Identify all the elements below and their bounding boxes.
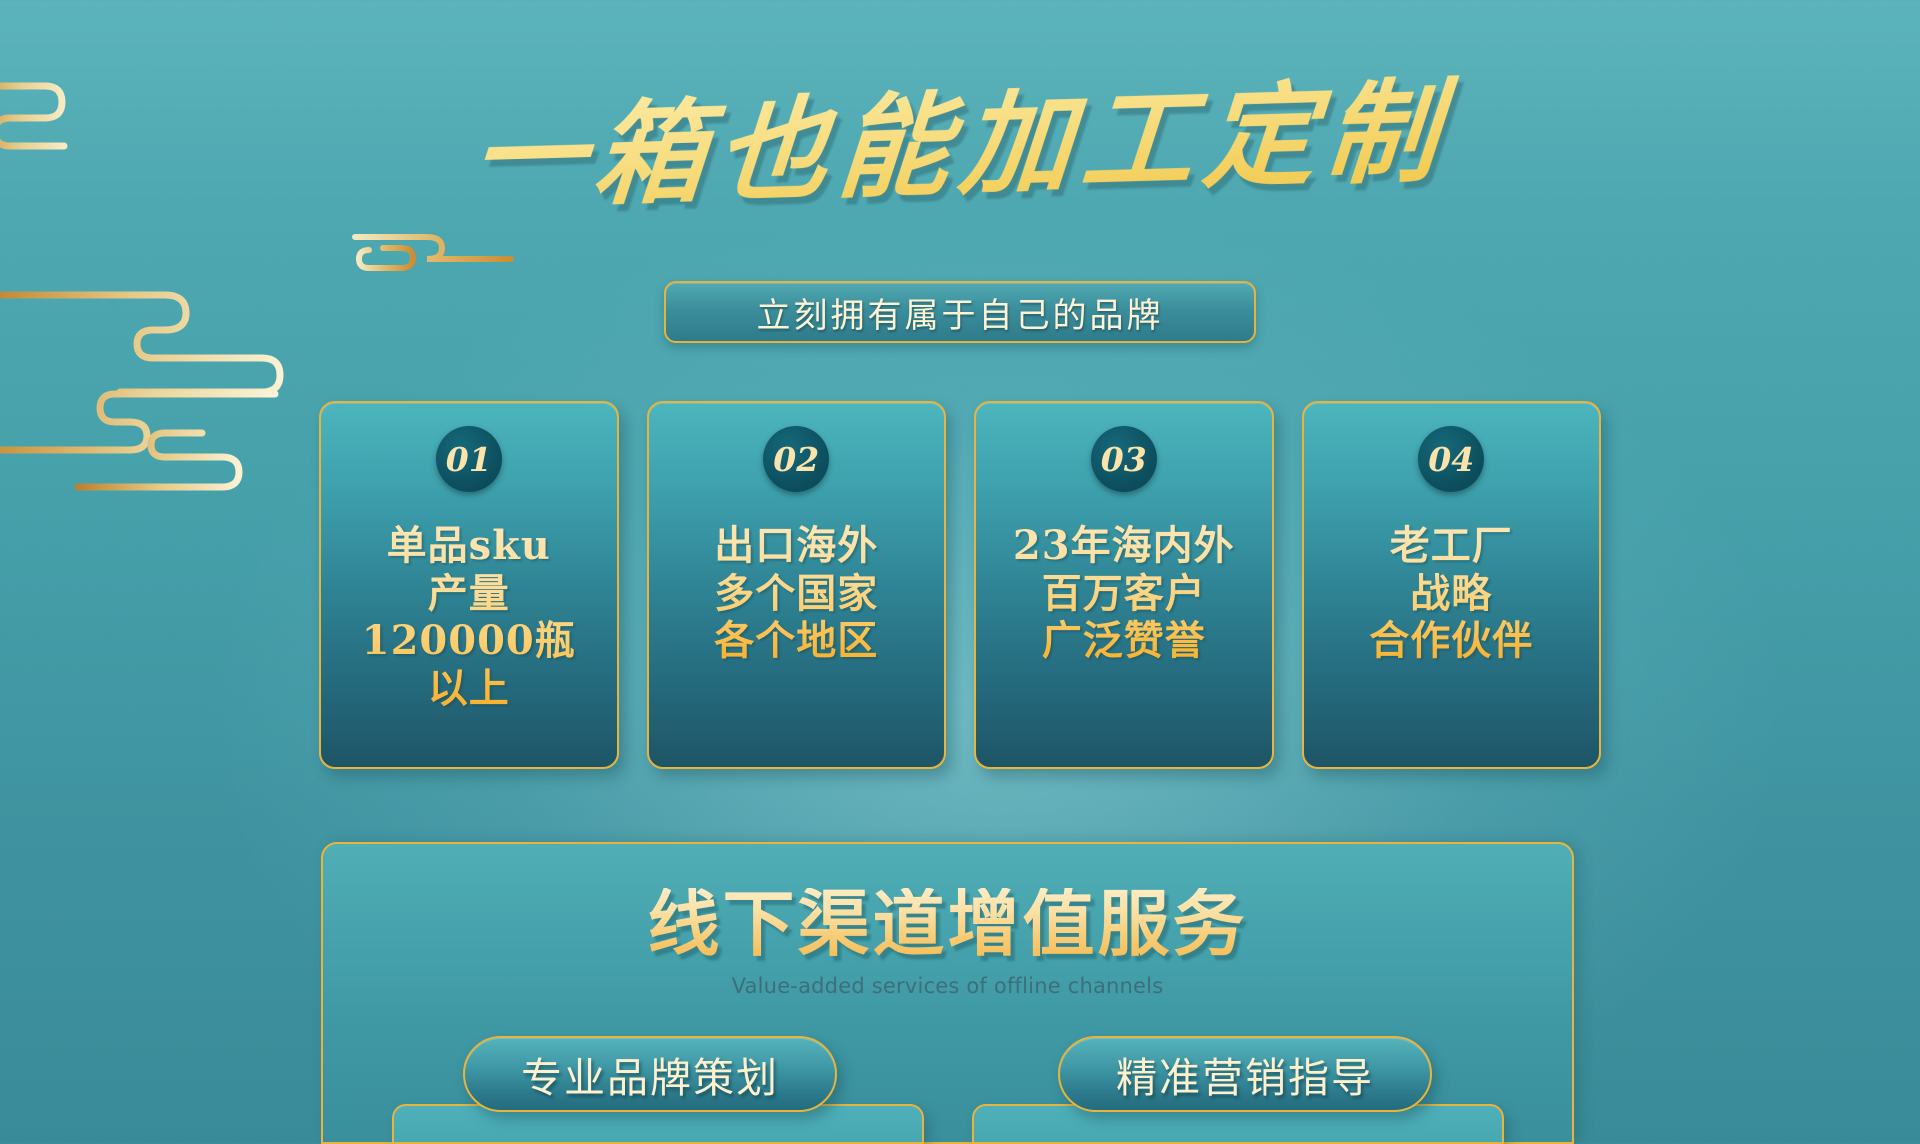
feature-card[interactable]: 01 单品sku 产量 120000瓶 以上: [319, 401, 619, 769]
card-text-line: 合作伙伴: [1369, 617, 1533, 665]
card-number-badge: 02: [763, 426, 829, 492]
service-pill-label: 精准营销指导: [1116, 1044, 1374, 1104]
card-text-line: 单品sku: [362, 522, 576, 570]
card-text-line: 以上: [362, 665, 576, 713]
card-text-line: 120000瓶: [362, 617, 576, 665]
feature-card[interactable]: 02 出口海外 多个国家 各个地区: [647, 401, 947, 769]
card-number-badge: 01: [436, 426, 502, 492]
card-number-label: 02: [773, 440, 819, 479]
card-number-label: 03: [1101, 440, 1147, 479]
card-text-block: 老工厂 战略 合作伙伴: [1369, 522, 1533, 665]
card-number-badge: 03: [1091, 426, 1157, 492]
card-text-block: 出口海外 多个国家 各个地区: [714, 522, 878, 665]
panel-subheading: Value-added services of offline channels: [323, 974, 1572, 998]
card-text-line: 百万客户: [1013, 570, 1235, 618]
cloud-mid-left-icon: [0, 280, 320, 520]
panel-heading: 线下渠道增值服务: [323, 888, 1572, 960]
service-pill-marketing-guidance[interactable]: 精准营销指导: [1058, 1036, 1432, 1112]
card-text-line: 战略: [1369, 570, 1533, 618]
card-number-label: 04: [1428, 440, 1474, 479]
service-pill-brand-planning[interactable]: 专业品牌策划: [463, 1036, 837, 1112]
card-number-label: 01: [446, 440, 492, 479]
subtitle-banner-label: 立刻拥有属于自己的品牌: [757, 288, 1164, 337]
service-pill-label: 专业品牌策划: [521, 1044, 779, 1104]
card-text-line: 产量: [362, 570, 576, 618]
subtitle-banner[interactable]: 立刻拥有属于自己的品牌: [664, 281, 1256, 343]
card-text-line: 出口海外: [714, 522, 878, 570]
card-text-block: 单品sku 产量 120000瓶 以上: [362, 522, 576, 712]
cloud-center-icon: [335, 215, 535, 295]
feature-card[interactable]: 03 23年海内外 百万客户 广泛赞誉: [974, 401, 1274, 769]
card-text-line: 老工厂: [1369, 522, 1533, 570]
card-text-line: 广泛赞誉: [1013, 617, 1235, 665]
feature-card-list: 01 单品sku 产量 120000瓶 以上 02 出口海外 多个国家 各个地区…: [319, 401, 1601, 769]
card-text-block: 23年海内外 百万客户 广泛赞誉: [1013, 522, 1235, 665]
card-text-line: 23年海内外: [1013, 522, 1235, 570]
feature-card[interactable]: 04 老工厂 战略 合作伙伴: [1302, 401, 1602, 769]
card-text-line: 多个国家: [714, 570, 878, 618]
card-text-line: 各个地区: [714, 617, 878, 665]
card-number-badge: 04: [1418, 426, 1484, 492]
page-title: 一箱也能加工定制: [0, 57, 1920, 234]
